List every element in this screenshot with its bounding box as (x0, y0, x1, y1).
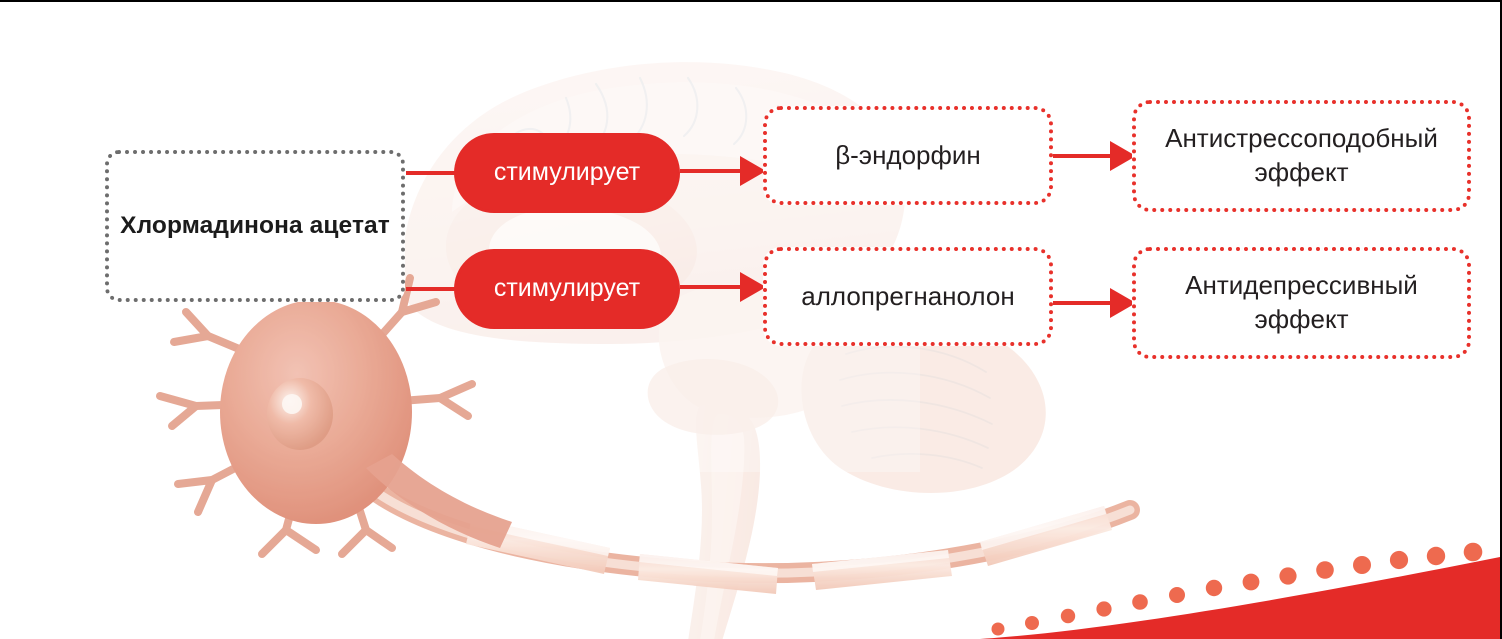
arrow-line (680, 285, 741, 289)
node-allopregnanolone[interactable]: аллопрегнанолон (763, 247, 1053, 346)
swoosh-decoration (980, 539, 1500, 639)
node-antidepressive-effect[interactable]: Антидепрессивный эффект (1132, 247, 1471, 359)
arrow-stimulates-to-endorphin (680, 156, 766, 186)
node-stimulates-top[interactable]: стимулирует (454, 133, 680, 213)
node-beta-endorphin-label: β-эндорфин (835, 139, 981, 173)
node-antistress-effect-label: Антистрессоподобный эффект (1136, 122, 1467, 190)
connector-source-to-stimulates-top (406, 171, 458, 175)
arrow-line (1050, 154, 1111, 158)
node-stimulates-top-label: стимулирует (494, 159, 640, 187)
arrow-endorphin-to-antistress (1050, 141, 1136, 171)
node-stimulates-bottom[interactable]: стимулирует (454, 249, 680, 329)
slide-canvas: Хлормадинона ацетат стимулирует стимулир… (0, 0, 1502, 639)
node-antidepressive-effect-label: Антидепрессивный эффект (1136, 269, 1467, 337)
node-beta-endorphin[interactable]: β-эндорфин (763, 106, 1053, 205)
node-allopregnanolone-label: аллопрегнанолон (801, 280, 1014, 314)
connector-source-to-stimulates-bottom (406, 287, 458, 291)
node-antistress-effect[interactable]: Антистрессоподобный эффект (1132, 100, 1471, 212)
arrow-line (1050, 301, 1111, 305)
arrow-allopregnanolone-to-antidepressive (1050, 288, 1136, 318)
arrow-line (680, 169, 741, 173)
arrow-stimulates-to-allopregnanolone (680, 272, 766, 302)
node-source-chlormadinone-acetate[interactable]: Хлормадинона ацетат (105, 150, 405, 302)
node-source-label: Хлормадинона ацетат (120, 210, 390, 241)
node-stimulates-bottom-label: стимулирует (494, 275, 640, 303)
